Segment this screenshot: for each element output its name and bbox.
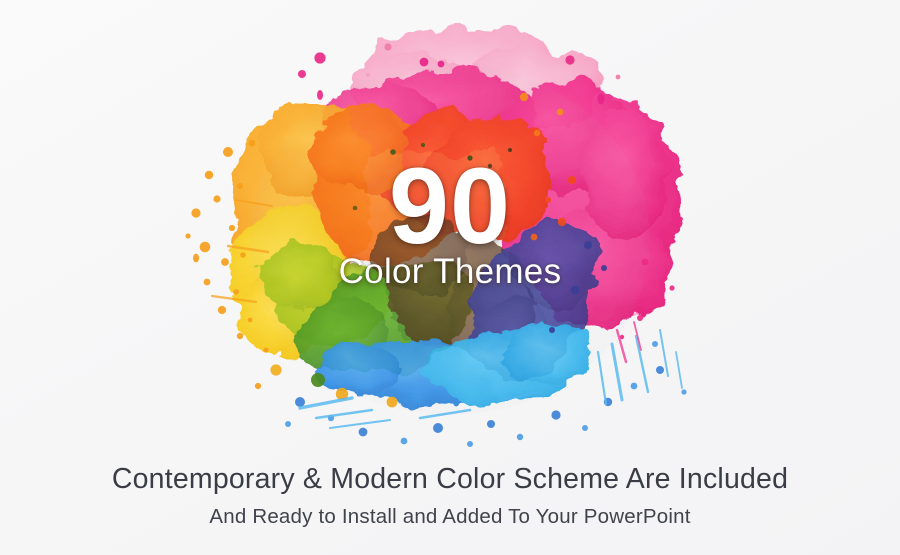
slide-canvas: 90 Color Themes Contemporary & Modern Co… [0, 0, 900, 555]
caption-block: Contemporary & Modern Color Scheme Are I… [0, 462, 900, 529]
splash-svg [0, 0, 900, 470]
splash-grain [250, 65, 650, 415]
caption-secondary-line: And Ready to Install and Added To Your P… [0, 504, 900, 530]
watercolor-splash-artwork [0, 0, 900, 470]
caption-primary-line: Contemporary & Modern Color Scheme Are I… [0, 462, 900, 498]
